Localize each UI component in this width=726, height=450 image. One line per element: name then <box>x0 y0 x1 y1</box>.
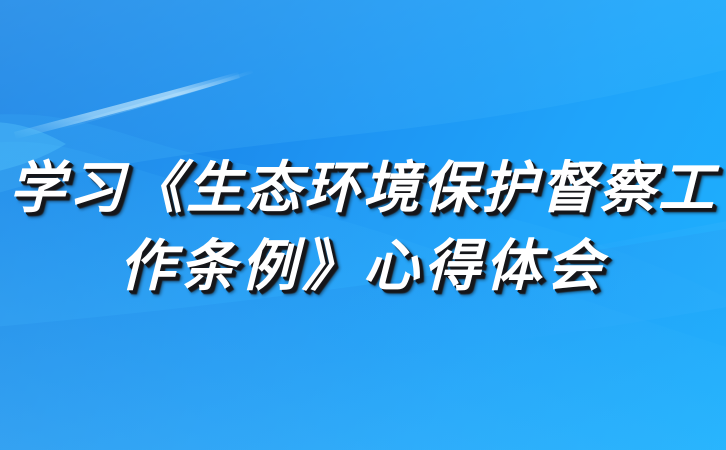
title-block: 学习《生态环境保护督察工 作条例》心得体会 <box>0 0 726 450</box>
title-line-1: 学习《生态环境保护督察工 <box>9 149 717 227</box>
title-banner: 学习《生态环境保护督察工 作条例》心得体会 <box>0 0 726 450</box>
title-line-2: 作条例》心得体会 <box>119 227 607 305</box>
